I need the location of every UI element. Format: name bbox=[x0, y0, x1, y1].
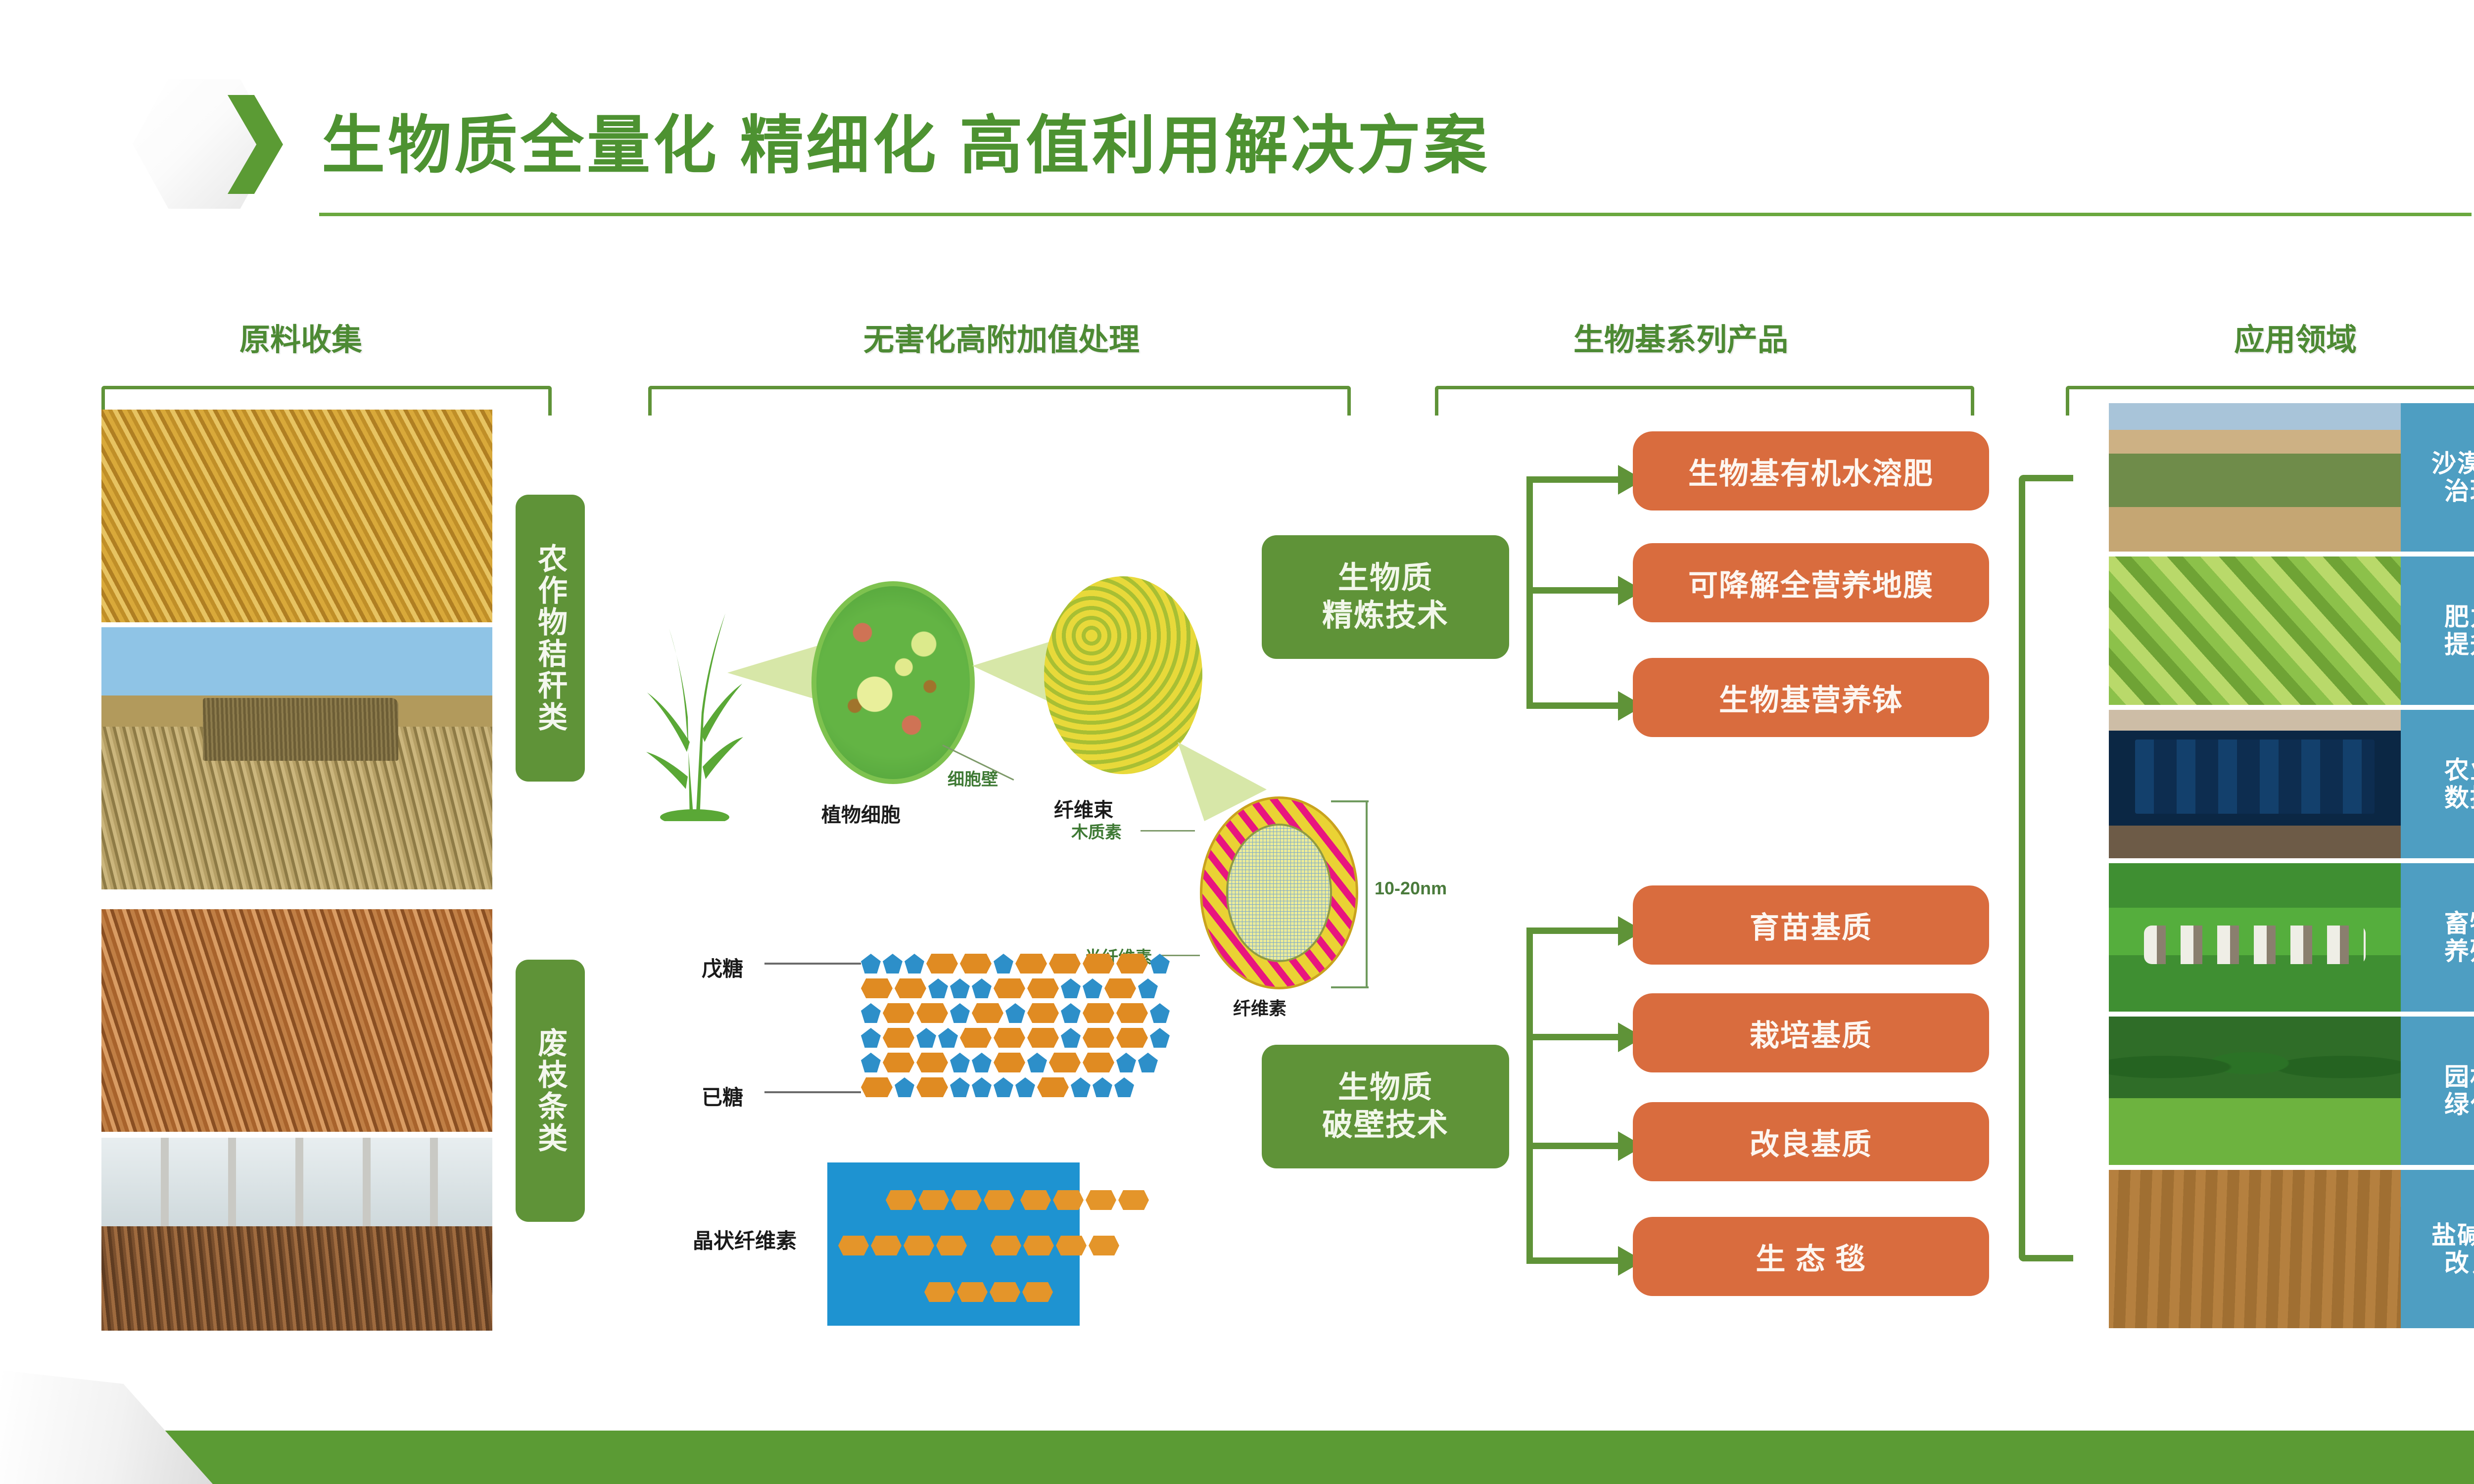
crystalline-cellulose-panel bbox=[827, 1162, 1080, 1326]
title-divider bbox=[319, 213, 2472, 216]
tech-refining-line2: 精炼技术 bbox=[1322, 597, 1449, 635]
plant-cell-label: 植物细胞 bbox=[821, 799, 901, 828]
tech-box-refining[interactable]: 生物质 精炼技术 bbox=[1262, 535, 1509, 659]
product-box-watersoluble-fertilizer[interactable]: 生物基有机水溶肥 bbox=[1633, 431, 1989, 510]
application-row-desertification[interactable]: 沙漠化 治理 bbox=[2109, 403, 2474, 552]
plant-cell-illustration bbox=[811, 581, 975, 784]
application-row-landscaping[interactable]: 园林 绿化 bbox=[2109, 1017, 2474, 1165]
app-landscape-line2: 绿化 bbox=[2444, 1091, 2474, 1118]
connector-wallbreak-1 bbox=[1526, 927, 1623, 934]
app-data-line2: 数据 bbox=[2444, 784, 2474, 812]
app-desert-line2: 治理 bbox=[2444, 477, 2474, 505]
connector-wallbreak-spine bbox=[1526, 927, 1533, 1264]
connector-wallbreak-3 bbox=[1526, 1143, 1623, 1149]
application-tag-landscaping: 园林 绿化 bbox=[2401, 1017, 2474, 1165]
page-title: 生物质全量化 精细化 高值利用解决方案 bbox=[322, 94, 1490, 185]
vineyard-pruning-photo bbox=[101, 1138, 492, 1331]
product-box-eco-blanket[interactable]: 生 态 毯 bbox=[1633, 1217, 1989, 1296]
feedstock-label-crop-straw: 农作物秸秆类 bbox=[516, 495, 585, 782]
cellulose-label: 纤维素 bbox=[1233, 994, 1286, 1020]
section-title-products: 生物基系列产品 bbox=[1573, 315, 1788, 359]
app-landscape-line1: 园林 bbox=[2444, 1063, 2474, 1091]
lignin-leader-line bbox=[1141, 830, 1195, 832]
connector-refining-bottom bbox=[1526, 702, 1623, 709]
section-title-applications: 应用领域 bbox=[2234, 315, 2357, 359]
application-tag-agri-data: 农业 数据 bbox=[2401, 710, 2474, 858]
sheep-pasture-photo bbox=[2109, 863, 2401, 1012]
app-fertility-line2: 提升 bbox=[2444, 631, 2474, 658]
application-tag-fertility: 肥力 提升 bbox=[2401, 556, 2474, 705]
app-data-line1: 农业 bbox=[2444, 756, 2474, 784]
product-box-biodegradable-mulch-film[interactable]: 可降解全营养地膜 bbox=[1633, 543, 1989, 622]
bracket-products bbox=[1435, 386, 1974, 416]
corn-straw-field-photo bbox=[101, 410, 492, 622]
connector-refining-top bbox=[1526, 476, 1623, 483]
pruned-branches-photo bbox=[101, 909, 492, 1132]
tech-wallbreak-line2: 破壁技术 bbox=[1322, 1107, 1449, 1144]
cellulose-core bbox=[1226, 824, 1332, 962]
product-box-cultivation-substrate[interactable]: 栽培基质 bbox=[1633, 993, 1989, 1072]
app-livestock-line2: 养殖 bbox=[2444, 937, 2474, 965]
product-box-seedling-substrate[interactable]: 育苗基质 bbox=[1633, 885, 1989, 965]
application-row-livestock[interactable]: 畜牧 养殖 bbox=[2109, 863, 2474, 1012]
dimension-line bbox=[1366, 800, 1368, 988]
bare-soil-field-photo bbox=[2109, 1170, 2401, 1328]
desert-vegetation-photo bbox=[2109, 403, 2401, 552]
app-fertility-line1: 肥力 bbox=[2444, 603, 2474, 631]
fiber-dimension-label: 10-20nm bbox=[1375, 878, 1447, 899]
app-saline-line2: 改良 bbox=[2444, 1249, 2474, 1277]
app-desert-line1: 沙漠化 bbox=[2431, 450, 2474, 477]
dimension-tick-top bbox=[1331, 800, 1369, 802]
tech-wallbreak-line1: 生物质 bbox=[1338, 1069, 1433, 1107]
bracket-processing bbox=[648, 386, 1351, 416]
tech-box-wall-breaking[interactable]: 生物质 破壁技术 bbox=[1262, 1045, 1509, 1168]
bracket-products-to-applications bbox=[2019, 475, 2073, 1261]
application-tag-livestock: 畜牧 养殖 bbox=[2401, 863, 2474, 1012]
dimension-tick-bottom bbox=[1331, 986, 1369, 988]
connector-refining-mid bbox=[1526, 587, 1623, 594]
bottom-green-bar bbox=[0, 1431, 2474, 1484]
app-saline-line1: 盐碱地 bbox=[2431, 1221, 2474, 1249]
application-row-saline-land[interactable]: 盐碱地 改良 bbox=[2109, 1170, 2474, 1328]
app-livestock-line1: 畜牧 bbox=[2444, 910, 2474, 937]
cell-wall-label: 细胞壁 bbox=[948, 766, 998, 790]
application-row-fertility[interactable]: 肥力 提升 bbox=[2109, 556, 2474, 705]
application-row-agri-data[interactable]: 农业 数据 bbox=[2109, 710, 2474, 858]
pentose-label: 戊糖 bbox=[702, 952, 743, 982]
hexose-leader-line bbox=[764, 1091, 861, 1093]
straw-bale-field-photo bbox=[101, 627, 492, 889]
application-tag-saline-land: 盐碱地 改良 bbox=[2401, 1170, 2474, 1328]
bottom-left-wedge-decoration bbox=[0, 1370, 213, 1484]
application-tag-desertification: 沙漠化 治理 bbox=[2401, 403, 2474, 552]
product-box-improvement-substrate[interactable]: 改良基质 bbox=[1633, 1102, 1989, 1181]
connector-wallbreak-2 bbox=[1526, 1034, 1623, 1040]
pentose-leader-line bbox=[764, 963, 861, 965]
grass-plant-icon bbox=[638, 544, 752, 821]
section-title-collection: 原料收集 bbox=[239, 315, 362, 359]
feedstock-label-waste-branch: 废枝条类 bbox=[516, 960, 585, 1222]
lignin-label: 木质素 bbox=[1071, 819, 1122, 843]
hexose-label: 已糖 bbox=[702, 1081, 743, 1111]
connector-wallbreak-4 bbox=[1526, 1257, 1623, 1264]
section-title-processing: 无害化高附加值处理 bbox=[863, 315, 1140, 359]
product-box-nutrient-pot[interactable]: 生物基营养钵 bbox=[1633, 658, 1989, 737]
infographic-slide: 生物质全量化 精细化 高值利用解决方案 原料收集 无害化高附加值处理 生物基系列… bbox=[0, 0, 2474, 1484]
data-control-room-photo bbox=[2109, 710, 2401, 858]
cabbage-field-photo bbox=[2109, 556, 2401, 705]
park-trees-photo bbox=[2109, 1017, 2401, 1165]
tech-refining-line1: 生物质 bbox=[1338, 559, 1433, 597]
crystalline-cellulose-label: 晶状纤维素 bbox=[693, 1224, 797, 1254]
